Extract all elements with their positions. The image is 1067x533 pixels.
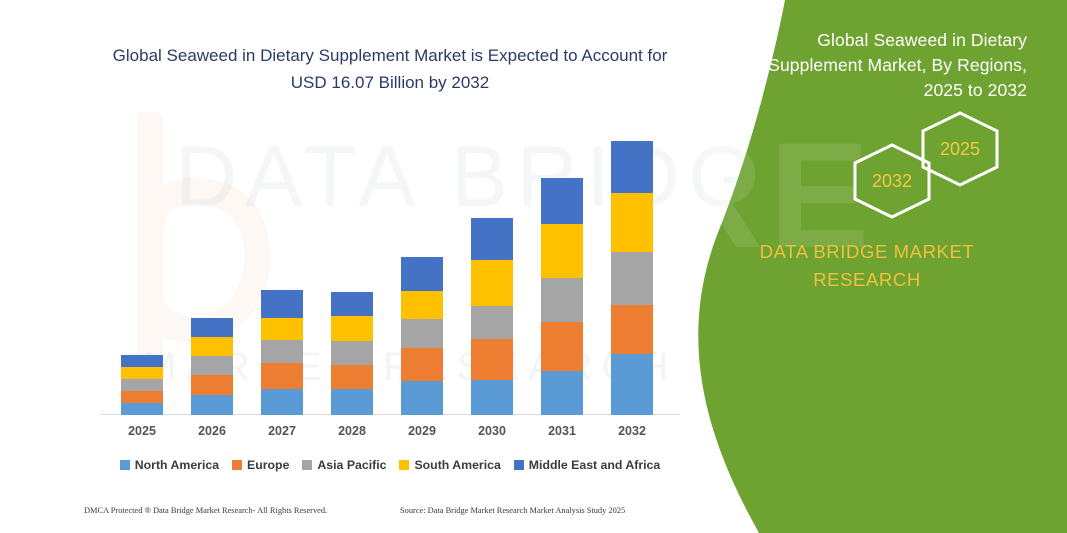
bar-segment xyxy=(541,278,583,322)
bar-segment xyxy=(331,365,373,389)
x-axis-label-2030: 2030 xyxy=(462,424,522,438)
bar-column-2029 xyxy=(401,257,443,415)
bar-segment xyxy=(121,379,163,391)
hexagon-group: 2025 2032 xyxy=(795,110,1035,210)
legend-item[interactable]: North America xyxy=(120,458,219,472)
panel-brand-text: DATA BRIDGE MARKET RESEARCH xyxy=(707,238,1027,294)
footer: DMCA Protected ® Data Bridge Market Rese… xyxy=(0,506,700,526)
bar-column-2030 xyxy=(471,218,513,415)
bar-segment xyxy=(611,193,653,252)
hexagon-2032: 2032 xyxy=(849,142,935,220)
bar-segment xyxy=(611,252,653,305)
bar-segment xyxy=(401,319,443,348)
bar-segment xyxy=(471,306,513,339)
bar-segment xyxy=(401,348,443,381)
bar-segment xyxy=(261,340,303,363)
stacked-bar-plot xyxy=(100,110,680,415)
bar-segment xyxy=(541,178,583,224)
bar-segment xyxy=(261,318,303,340)
x-axis-label-2029: 2029 xyxy=(392,424,452,438)
bar-segment xyxy=(191,395,233,415)
bar-column-2028 xyxy=(331,292,373,415)
bar-segment xyxy=(471,218,513,260)
x-axis-label-2031: 2031 xyxy=(532,424,592,438)
x-axis-label-2025: 2025 xyxy=(112,424,172,438)
bar-segment xyxy=(471,260,513,306)
legend-item[interactable]: Asia Pacific xyxy=(302,458,386,472)
bar-segment xyxy=(191,356,233,375)
bar-segment xyxy=(331,292,373,316)
bar-segment xyxy=(401,381,443,415)
bar-segment xyxy=(331,316,373,341)
bar-segment xyxy=(121,391,163,403)
page-title: Global Seaweed in Dietary Supplement Mar… xyxy=(110,42,670,96)
chart-area: DATA BRIDGE MARKET RESEARCH Global Seawe… xyxy=(0,0,720,533)
footer-source: Source: Data Bridge Market Research Mark… xyxy=(400,506,625,515)
legend-label: South America xyxy=(414,458,500,472)
bar-segment xyxy=(331,341,373,365)
panel-title: Global Seaweed in Dietary Supplement Mar… xyxy=(765,28,1027,103)
infographic-page: DATA BRIDGE MARKET RESEARCH Global Seawe… xyxy=(0,0,1067,533)
legend-label: Middle East and Africa xyxy=(529,458,660,472)
x-axis-label-2027: 2027 xyxy=(252,424,312,438)
bar-segment xyxy=(541,322,583,371)
legend-label: Europe xyxy=(247,458,289,472)
bar-column-2031 xyxy=(541,178,583,415)
legend-item[interactable]: South America xyxy=(399,458,500,472)
bar-column-2026 xyxy=(191,318,233,415)
x-axis-label-2028: 2028 xyxy=(322,424,382,438)
bar-segment xyxy=(401,257,443,291)
bar-segment xyxy=(261,389,303,415)
legend-swatch xyxy=(120,460,130,470)
bar-column-2027 xyxy=(261,290,303,415)
bar-segment xyxy=(191,318,233,337)
hexagon-2032-label: 2032 xyxy=(849,142,935,220)
bar-segment xyxy=(121,403,163,415)
bar-segment xyxy=(541,371,583,415)
chart-legend: North AmericaEuropeAsia PacificSouth Ame… xyxy=(104,456,676,474)
bar-column-2032 xyxy=(611,141,653,415)
green-panel: RE Global Seaweed in Dietary Supplement … xyxy=(667,0,1067,533)
bar-segment xyxy=(191,375,233,395)
x-axis-label-2026: 2026 xyxy=(182,424,242,438)
bar-segment xyxy=(401,291,443,319)
bar-segment xyxy=(191,337,233,356)
bar-segment xyxy=(471,339,513,380)
bar-segment xyxy=(121,367,163,379)
x-axis-label-2032: 2032 xyxy=(602,424,662,438)
bar-segment xyxy=(541,224,583,278)
legend-item[interactable]: Europe xyxy=(232,458,289,472)
legend-label: North America xyxy=(135,458,219,472)
legend-swatch xyxy=(302,460,312,470)
x-axis-labels: 20252026202720282029203020312032 xyxy=(100,424,680,446)
bar-segment xyxy=(261,290,303,318)
bar-segment xyxy=(121,355,163,367)
legend-swatch xyxy=(514,460,524,470)
footer-copyright: DMCA Protected ® Data Bridge Market Rese… xyxy=(84,506,327,515)
bar-segment xyxy=(331,389,373,415)
bar-segment xyxy=(611,354,653,415)
legend-swatch xyxy=(232,460,242,470)
legend-label: Asia Pacific xyxy=(317,458,386,472)
legend-item[interactable]: Middle East and Africa xyxy=(514,458,660,472)
bar-column-2025 xyxy=(121,355,163,415)
bar-segment xyxy=(471,380,513,415)
bar-segment xyxy=(611,305,653,354)
bar-segment xyxy=(611,141,653,193)
legend-swatch xyxy=(399,460,409,470)
bar-segment xyxy=(261,363,303,389)
